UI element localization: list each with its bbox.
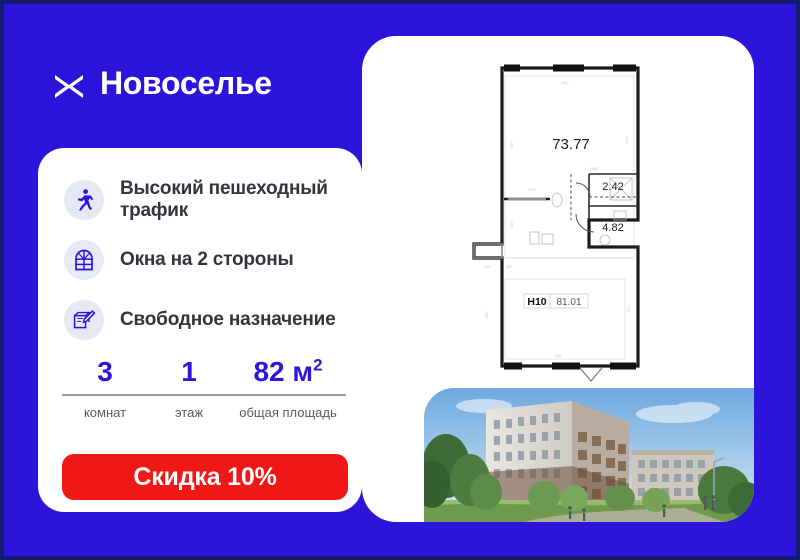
feature-label: Окна на 2 стороны (120, 249, 294, 271)
building-render-photo[interactable] (424, 388, 754, 522)
svg-text:820: 820 (506, 265, 512, 269)
stat-value-area-unit: 2 (313, 356, 322, 375)
svg-text:Н10: Н10 (527, 296, 546, 308)
svg-text:1680: 1680 (590, 167, 598, 171)
floor-plan-drawing: 3650 4270 3120 1680 2200 1600 990 820 24… (458, 54, 658, 384)
unit-badge: Н10 81.01 (524, 294, 588, 308)
svg-text:2200: 2200 (528, 188, 536, 192)
discount-button[interactable]: Скидка 10% (62, 454, 348, 500)
x-mark-logo-icon (52, 66, 86, 100)
details-card: Высокий пешеходный трафик Окна на 2 стор… (38, 148, 362, 512)
stats-block: 3 1 82 м2 комнат этаж общая площадь (62, 358, 346, 421)
room-area-main: 73.77 (552, 136, 590, 153)
brand-header: Новоселье (52, 66, 272, 100)
pedestrian-walking-icon (64, 180, 104, 220)
building-render-image (424, 388, 754, 522)
brand-name: Новоселье (100, 67, 272, 99)
svg-text:1600: 1600 (510, 221, 514, 229)
svg-text:990: 990 (484, 265, 490, 269)
svg-text:3650: 3650 (561, 81, 569, 85)
feature-label: Высокий пешеходный трафик (120, 178, 344, 222)
stat-value-area: 82 м2 (230, 358, 346, 386)
feature-item-two-side-windows: Окна на 2 стороны (64, 234, 344, 286)
blueprint-pencil-icon (64, 300, 104, 340)
svg-text:4270: 4270 (510, 141, 514, 149)
room-area-bath-small: 2.42 (602, 181, 623, 193)
floor-plan-container[interactable]: 3650 4270 3120 1680 2200 1600 990 820 24… (362, 36, 754, 388)
feature-item-free-purpose: Свободное назначение (64, 294, 344, 346)
svg-text:3110: 3110 (627, 305, 631, 312)
feature-list: Высокий пешеходный трафик Окна на 2 стор… (64, 174, 344, 354)
svg-text:3120: 3120 (625, 136, 629, 144)
stats-values-row: 3 1 82 м2 (62, 358, 346, 394)
svg-text:4280: 4280 (554, 354, 562, 358)
svg-text:2440: 2440 (485, 311, 489, 319)
stat-value-floor: 1 (148, 358, 230, 386)
stat-value-rooms: 3 (62, 358, 148, 386)
stat-value-area-number: 82 м (253, 356, 313, 387)
room-area-bath-large: 4.82 (602, 222, 623, 234)
feature-label: Свободное назначение (120, 309, 335, 331)
feature-item-pedestrian-traffic: Высокий пешеходный трафик (64, 174, 344, 226)
stat-label-area: общая площадь (230, 405, 346, 421)
arched-window-icon (64, 240, 104, 280)
listing-card-screen: 3650 4270 3120 1680 2200 1600 990 820 24… (0, 0, 800, 560)
stat-label-rooms: комнат (62, 405, 148, 421)
stat-label-floor: этаж (148, 405, 230, 421)
plan-and-photo-card: 3650 4270 3120 1680 2200 1600 990 820 24… (362, 36, 754, 522)
svg-text:81.01: 81.01 (556, 297, 581, 308)
stats-labels-row: комнат этаж общая площадь (62, 396, 346, 421)
